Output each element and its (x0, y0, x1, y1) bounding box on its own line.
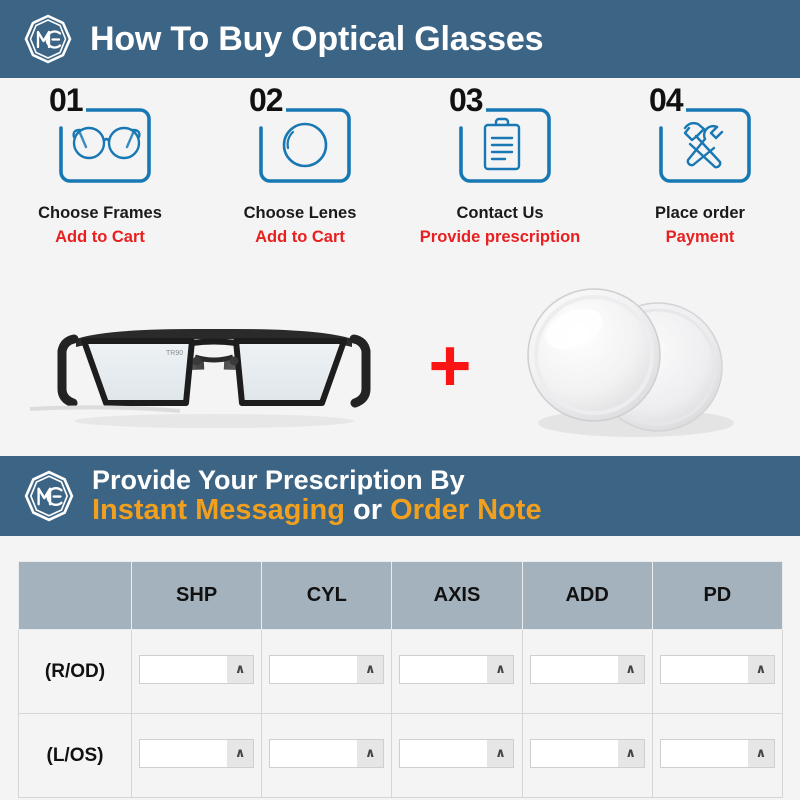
pd-right-value[interactable] (661, 656, 748, 683)
add-right-value[interactable] (531, 656, 618, 683)
cell-axis-left: ∧ (392, 714, 522, 798)
table-header-row: SHP CYL AXIS ADD PD (19, 562, 783, 630)
column-header-pd: PD (652, 562, 782, 630)
cyl-left-dropdown[interactable]: ∧ (269, 739, 384, 768)
step-label: Choose Frames (38, 204, 162, 223)
shp-left-value[interactable] (140, 740, 227, 767)
cell-pd-left: ∧ (652, 714, 782, 798)
chevron-up-icon[interactable]: ∧ (227, 656, 253, 683)
row-label-left-eye: (L/OS) (19, 714, 132, 798)
table-body: (R/OD) ∧ ∧ (19, 630, 783, 798)
prescription-banner-line2: Instant Messaging or Order Note (92, 495, 542, 526)
step-sublabel: Payment (666, 228, 735, 247)
chevron-up-icon[interactable]: ∧ (357, 740, 383, 767)
shp-left-dropdown[interactable]: ∧ (139, 739, 254, 768)
step-sublabel: Provide prescription (420, 228, 580, 247)
chevron-up-icon[interactable]: ∧ (487, 656, 513, 683)
step-label: Choose Lenes (244, 204, 357, 223)
step-item: 03 Contact Us Provide prescription (400, 86, 600, 276)
step-icon-box: 02 (244, 86, 356, 190)
chevron-up-icon[interactable]: ∧ (618, 656, 644, 683)
product-showcase: TR90 + (0, 276, 800, 456)
cell-shp-right: ∧ (132, 630, 262, 714)
step-sublabel: Add to Cart (55, 228, 145, 247)
lenses-product-image (486, 281, 786, 451)
chevron-up-icon[interactable]: ∧ (748, 656, 774, 683)
svg-text:TR90: TR90 (166, 350, 183, 357)
row-label-right-eye: (R/OD) (19, 630, 132, 714)
step-label: Place order (655, 204, 745, 223)
prescription-banner-line1: Provide Your Prescription By (92, 466, 542, 495)
chevron-up-icon[interactable]: ∧ (227, 740, 253, 767)
step-item: 04 Place order Payment (600, 86, 800, 276)
column-header-axis: AXIS (392, 562, 522, 630)
column-header-add: ADD (522, 562, 652, 630)
step-sublabel: Add to Cart (255, 228, 345, 247)
step-item: 01 Choose Frames Add to Cart (0, 86, 200, 276)
cell-shp-left: ∧ (132, 714, 262, 798)
shp-right-value[interactable] (140, 656, 227, 683)
chevron-up-icon[interactable]: ∧ (748, 740, 774, 767)
page-title: How To Buy Optical Glasses (90, 20, 543, 59)
chevron-up-icon[interactable]: ∧ (357, 656, 383, 683)
me-octagon-logo-icon (22, 13, 74, 65)
connector-text: or (345, 494, 390, 526)
prescription-table-wrap: SHP CYL AXIS ADD PD (R/OD) ∧ (18, 561, 783, 798)
cell-pd-right: ∧ (652, 630, 782, 714)
cell-axis-right: ∧ (392, 630, 522, 714)
prescription-table: SHP CYL AXIS ADD PD (R/OD) ∧ (18, 561, 783, 798)
cell-add-left: ∧ (522, 714, 652, 798)
axis-left-value[interactable] (400, 740, 487, 767)
step-icon-box: 04 (644, 86, 756, 190)
column-header-cyl: CYL (262, 562, 392, 630)
table-row: (R/OD) ∧ ∧ (19, 630, 783, 714)
instant-messaging-text: Instant Messaging (92, 494, 345, 526)
pd-left-value[interactable] (661, 740, 748, 767)
step-number: 04 (646, 82, 686, 119)
step-icon-box: 03 (444, 86, 556, 190)
prescription-banner: Provide Your Prescription By Instant Mes… (0, 456, 800, 536)
add-left-dropdown[interactable]: ∧ (530, 739, 645, 768)
pd-right-dropdown[interactable]: ∧ (660, 655, 775, 684)
chevron-up-icon[interactable]: ∧ (487, 740, 513, 767)
order-note-text: Order Note (390, 494, 541, 526)
cyl-left-value[interactable] (270, 740, 357, 767)
header-banner: How To Buy Optical Glasses (0, 0, 800, 78)
cell-add-right: ∧ (522, 630, 652, 714)
step-icon-box: 01 (44, 86, 156, 190)
cell-cyl-left: ∧ (262, 714, 392, 798)
cyl-right-dropdown[interactable]: ∧ (269, 655, 384, 684)
step-number: 02 (246, 82, 286, 119)
axis-right-value[interactable] (400, 656, 487, 683)
step-label: Contact Us (456, 204, 543, 223)
eyeglasses-product-image: TR90 (14, 281, 414, 451)
step-number: 01 (46, 82, 86, 119)
table-row: (L/OS) ∧ ∧ (19, 714, 783, 798)
me-octagon-logo-icon (22, 469, 76, 523)
steps-row: 01 Choose Frames Add to Cart 02 Choose L… (0, 78, 800, 276)
infographic-page: How To Buy Optical Glasses (0, 0, 800, 800)
plus-symbol: + (428, 329, 471, 403)
step-number: 03 (446, 82, 486, 119)
add-left-value[interactable] (531, 740, 618, 767)
add-right-dropdown[interactable]: ∧ (530, 655, 645, 684)
axis-right-dropdown[interactable]: ∧ (399, 655, 514, 684)
table-head: SHP CYL AXIS ADD PD (19, 562, 783, 630)
cyl-right-value[interactable] (270, 656, 357, 683)
pd-left-dropdown[interactable]: ∧ (660, 739, 775, 768)
chevron-up-icon[interactable]: ∧ (618, 740, 644, 767)
axis-left-dropdown[interactable]: ∧ (399, 739, 514, 768)
cell-cyl-right: ∧ (262, 630, 392, 714)
column-header-shp: SHP (132, 562, 262, 630)
table-corner-header (19, 562, 132, 630)
shp-right-dropdown[interactable]: ∧ (139, 655, 254, 684)
step-item: 02 Choose Lenes Add to Cart (200, 86, 400, 276)
